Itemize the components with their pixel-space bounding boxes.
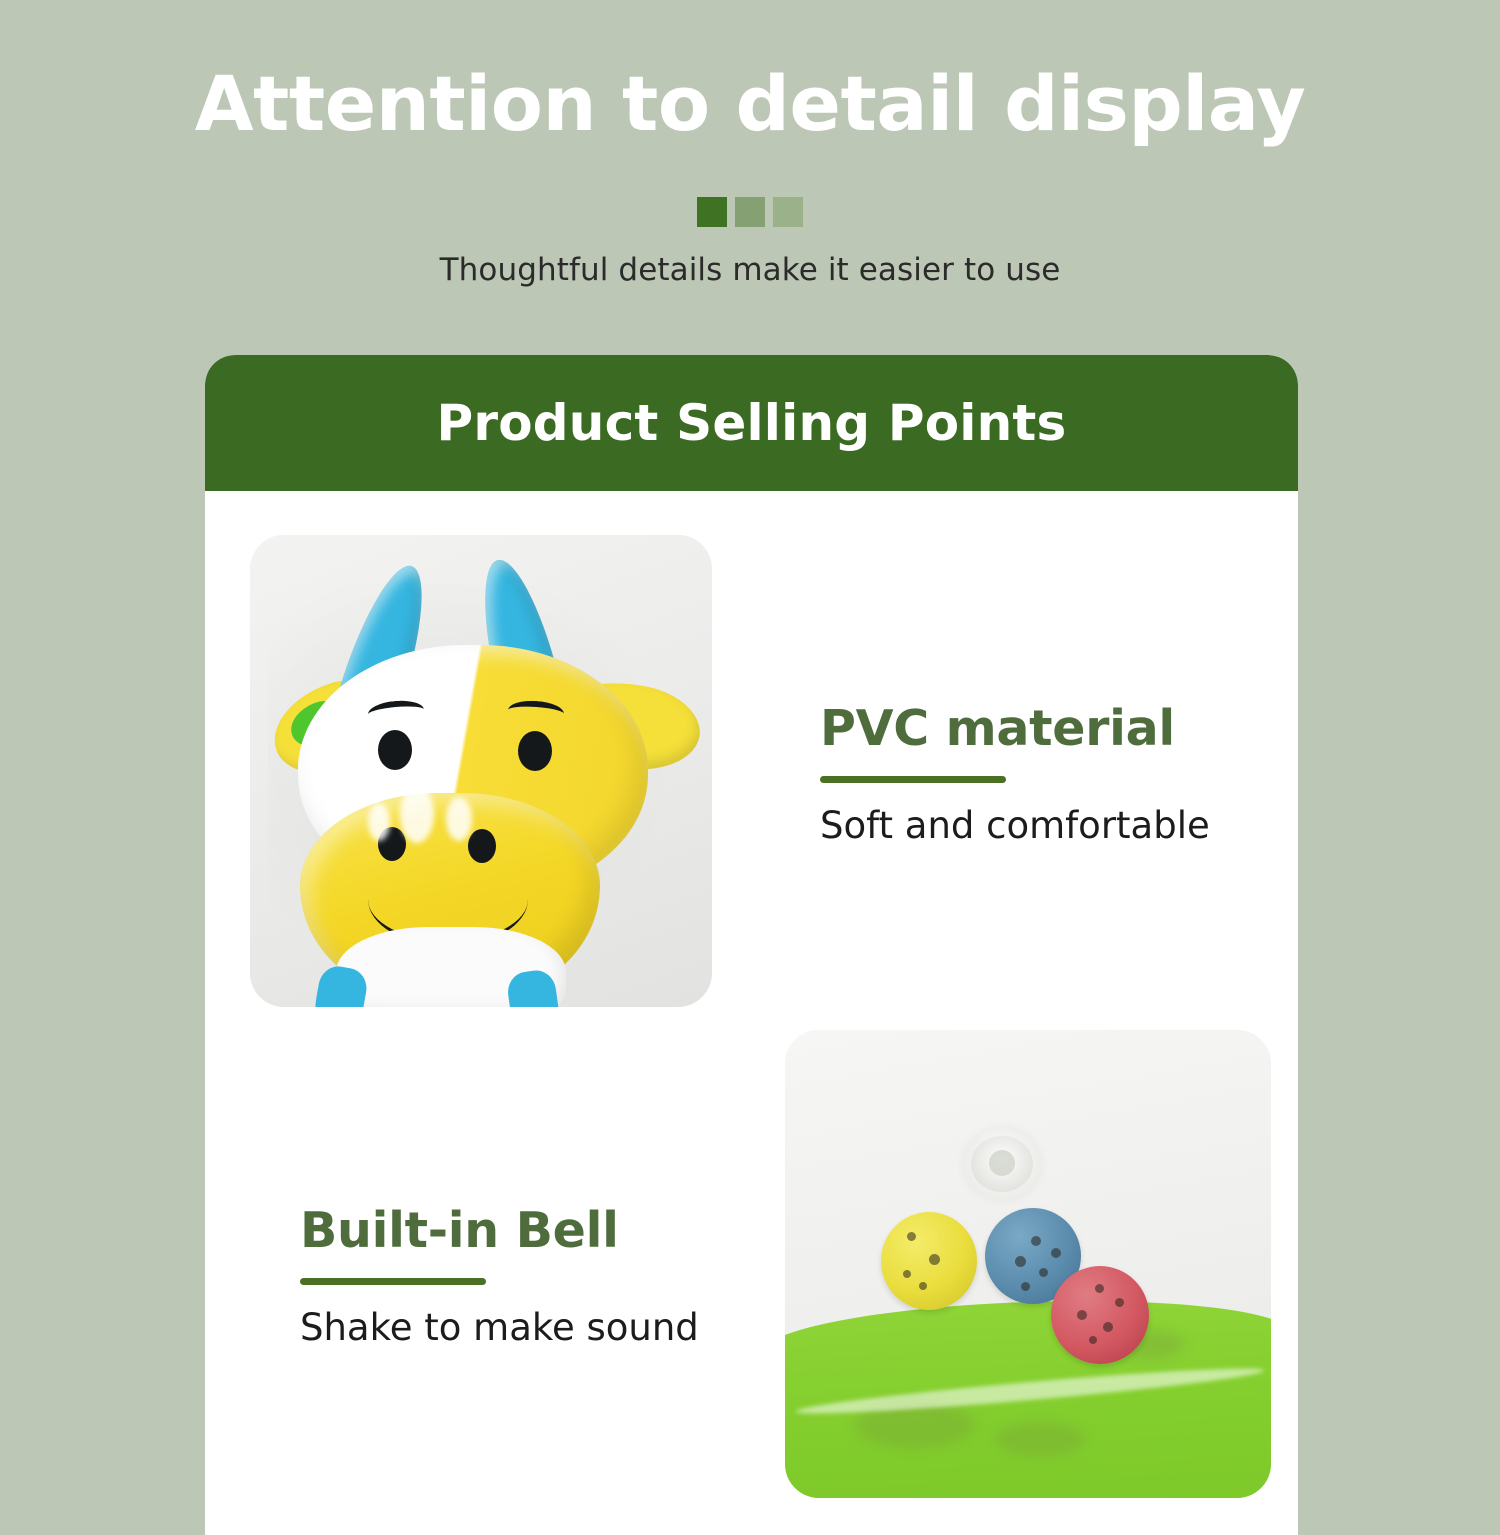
- cow-toy-photo: [250, 535, 712, 1007]
- feature-bell-description: Shake to make sound: [300, 1306, 699, 1349]
- ball-hole: [1021, 1282, 1030, 1291]
- divider-square-dark-icon: [697, 197, 727, 227]
- ball-hole: [1039, 1268, 1048, 1277]
- page-title: Attention to detail display: [0, 62, 1500, 146]
- feature-bell-heading: Built-in Bell: [300, 1205, 699, 1256]
- feature-bell-text: Built-in Bell Shake to make sound: [300, 1205, 699, 1349]
- cow-gloss-3: [368, 803, 390, 841]
- ball-hole: [1031, 1236, 1041, 1246]
- cow-eye-right-icon: [518, 731, 552, 771]
- rattle-ball-yellow: [881, 1212, 977, 1310]
- hero-section: Attention to detail display Thoughtful d…: [0, 0, 1500, 350]
- ball-hole: [907, 1232, 916, 1241]
- cow-eye-left-icon: [378, 730, 412, 770]
- cow-photo-scene: [250, 535, 712, 1007]
- grass-smudge-2: [995, 1422, 1085, 1456]
- feature-pvc-text: PVC material Soft and comfortable: [820, 703, 1210, 847]
- feature-pvc-heading: PVC material: [820, 703, 1210, 754]
- feature-pvc-description: Soft and comfortable: [820, 804, 1210, 847]
- cow-gloss-1: [400, 785, 434, 843]
- card-header: Product Selling Points: [205, 355, 1298, 491]
- divider-square-mid-icon: [735, 197, 765, 227]
- ball-hole: [1051, 1248, 1061, 1258]
- ball-hole: [1115, 1298, 1124, 1307]
- rattle-balls-photo: [785, 1030, 1271, 1498]
- ball-hole: [919, 1282, 927, 1290]
- page-subtitle: Thoughtful details make it easier to use: [0, 252, 1500, 288]
- divider-squares: [0, 197, 1500, 227]
- divider-square-light-icon: [773, 197, 803, 227]
- ball-hole: [1077, 1310, 1087, 1320]
- ball-hole: [929, 1254, 940, 1265]
- ball-hole: [1089, 1336, 1097, 1344]
- card-header-title: Product Selling Points: [437, 394, 1067, 452]
- balls-photo-scene: [785, 1030, 1271, 1498]
- ball-hole: [903, 1270, 911, 1278]
- ball-hole: [1103, 1322, 1113, 1332]
- ball-hole: [1015, 1256, 1026, 1267]
- rattle-ball-red: [1051, 1266, 1149, 1364]
- feature-pvc-rule: [820, 776, 1006, 783]
- cow-gloss-2: [446, 797, 472, 841]
- ball-hole: [1095, 1284, 1104, 1293]
- feature-bell-rule: [300, 1278, 486, 1285]
- inflation-valve-icon: [963, 1128, 1041, 1200]
